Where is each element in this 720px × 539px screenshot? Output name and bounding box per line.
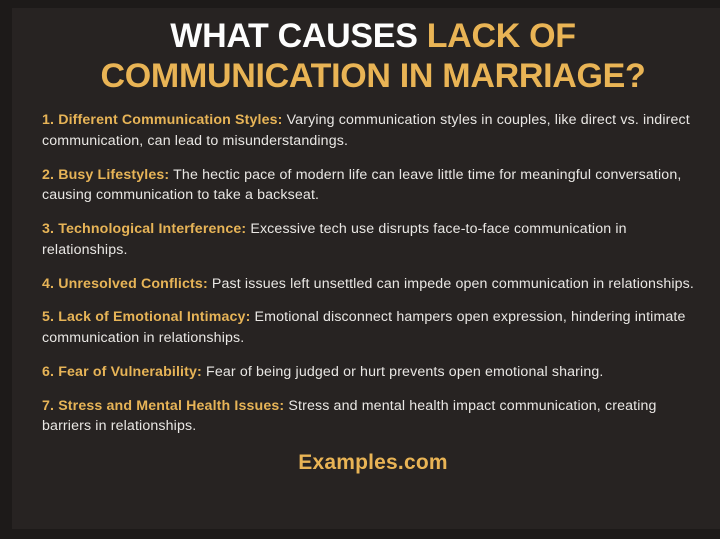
list-item: 5. Lack of Emotional Intimacy: Emotional… bbox=[42, 307, 704, 348]
cause-heading: 4. Unresolved Conflicts: bbox=[42, 276, 208, 292]
page-title: WHAT CAUSES LACK OF COMMUNICATION IN MAR… bbox=[42, 16, 704, 96]
cause-heading: 1. Different Communication Styles: bbox=[42, 112, 283, 128]
infographic-content: WHAT CAUSES LACK OF COMMUNICATION IN MAR… bbox=[42, 16, 704, 529]
list-item: 6. Fear of Vulnerability: Fear of being … bbox=[42, 362, 704, 383]
title-gold-segment-1: LACK OF bbox=[427, 17, 576, 55]
cause-body: Past issues left unsettled can impede op… bbox=[208, 276, 694, 292]
cause-heading: 3. Technological Interference: bbox=[42, 221, 246, 237]
infographic-root: WHAT CAUSES LACK OF COMMUNICATION IN MAR… bbox=[0, 0, 720, 539]
cause-heading: 2. Busy Lifestyles: bbox=[42, 167, 169, 183]
brand-footer: Examples.com bbox=[42, 451, 704, 475]
cause-heading: 7. Stress and Mental Health Issues: bbox=[42, 398, 284, 414]
cause-heading: 6. Fear of Vulnerability: bbox=[42, 364, 202, 380]
causes-list: 1. Different Communication Styles: Varyi… bbox=[42, 110, 704, 437]
list-item: 2. Busy Lifestyles: The hectic pace of m… bbox=[42, 165, 704, 206]
list-item: 3. Technological Interference: Excessive… bbox=[42, 219, 704, 260]
title-gold-segment-2: COMMUNICATION IN MARRIAGE? bbox=[101, 57, 646, 95]
title-white-segment: WHAT CAUSES bbox=[170, 17, 426, 55]
list-item: 1. Different Communication Styles: Varyi… bbox=[42, 110, 704, 151]
cause-body: Fear of being judged or hurt prevents op… bbox=[202, 364, 604, 380]
infographic-panel: WHAT CAUSES LACK OF COMMUNICATION IN MAR… bbox=[12, 8, 720, 529]
cause-heading: 5. Lack of Emotional Intimacy: bbox=[42, 309, 250, 325]
list-item: 4. Unresolved Conflicts: Past issues lef… bbox=[42, 274, 704, 295]
list-item: 7. Stress and Mental Health Issues: Stre… bbox=[42, 396, 704, 437]
